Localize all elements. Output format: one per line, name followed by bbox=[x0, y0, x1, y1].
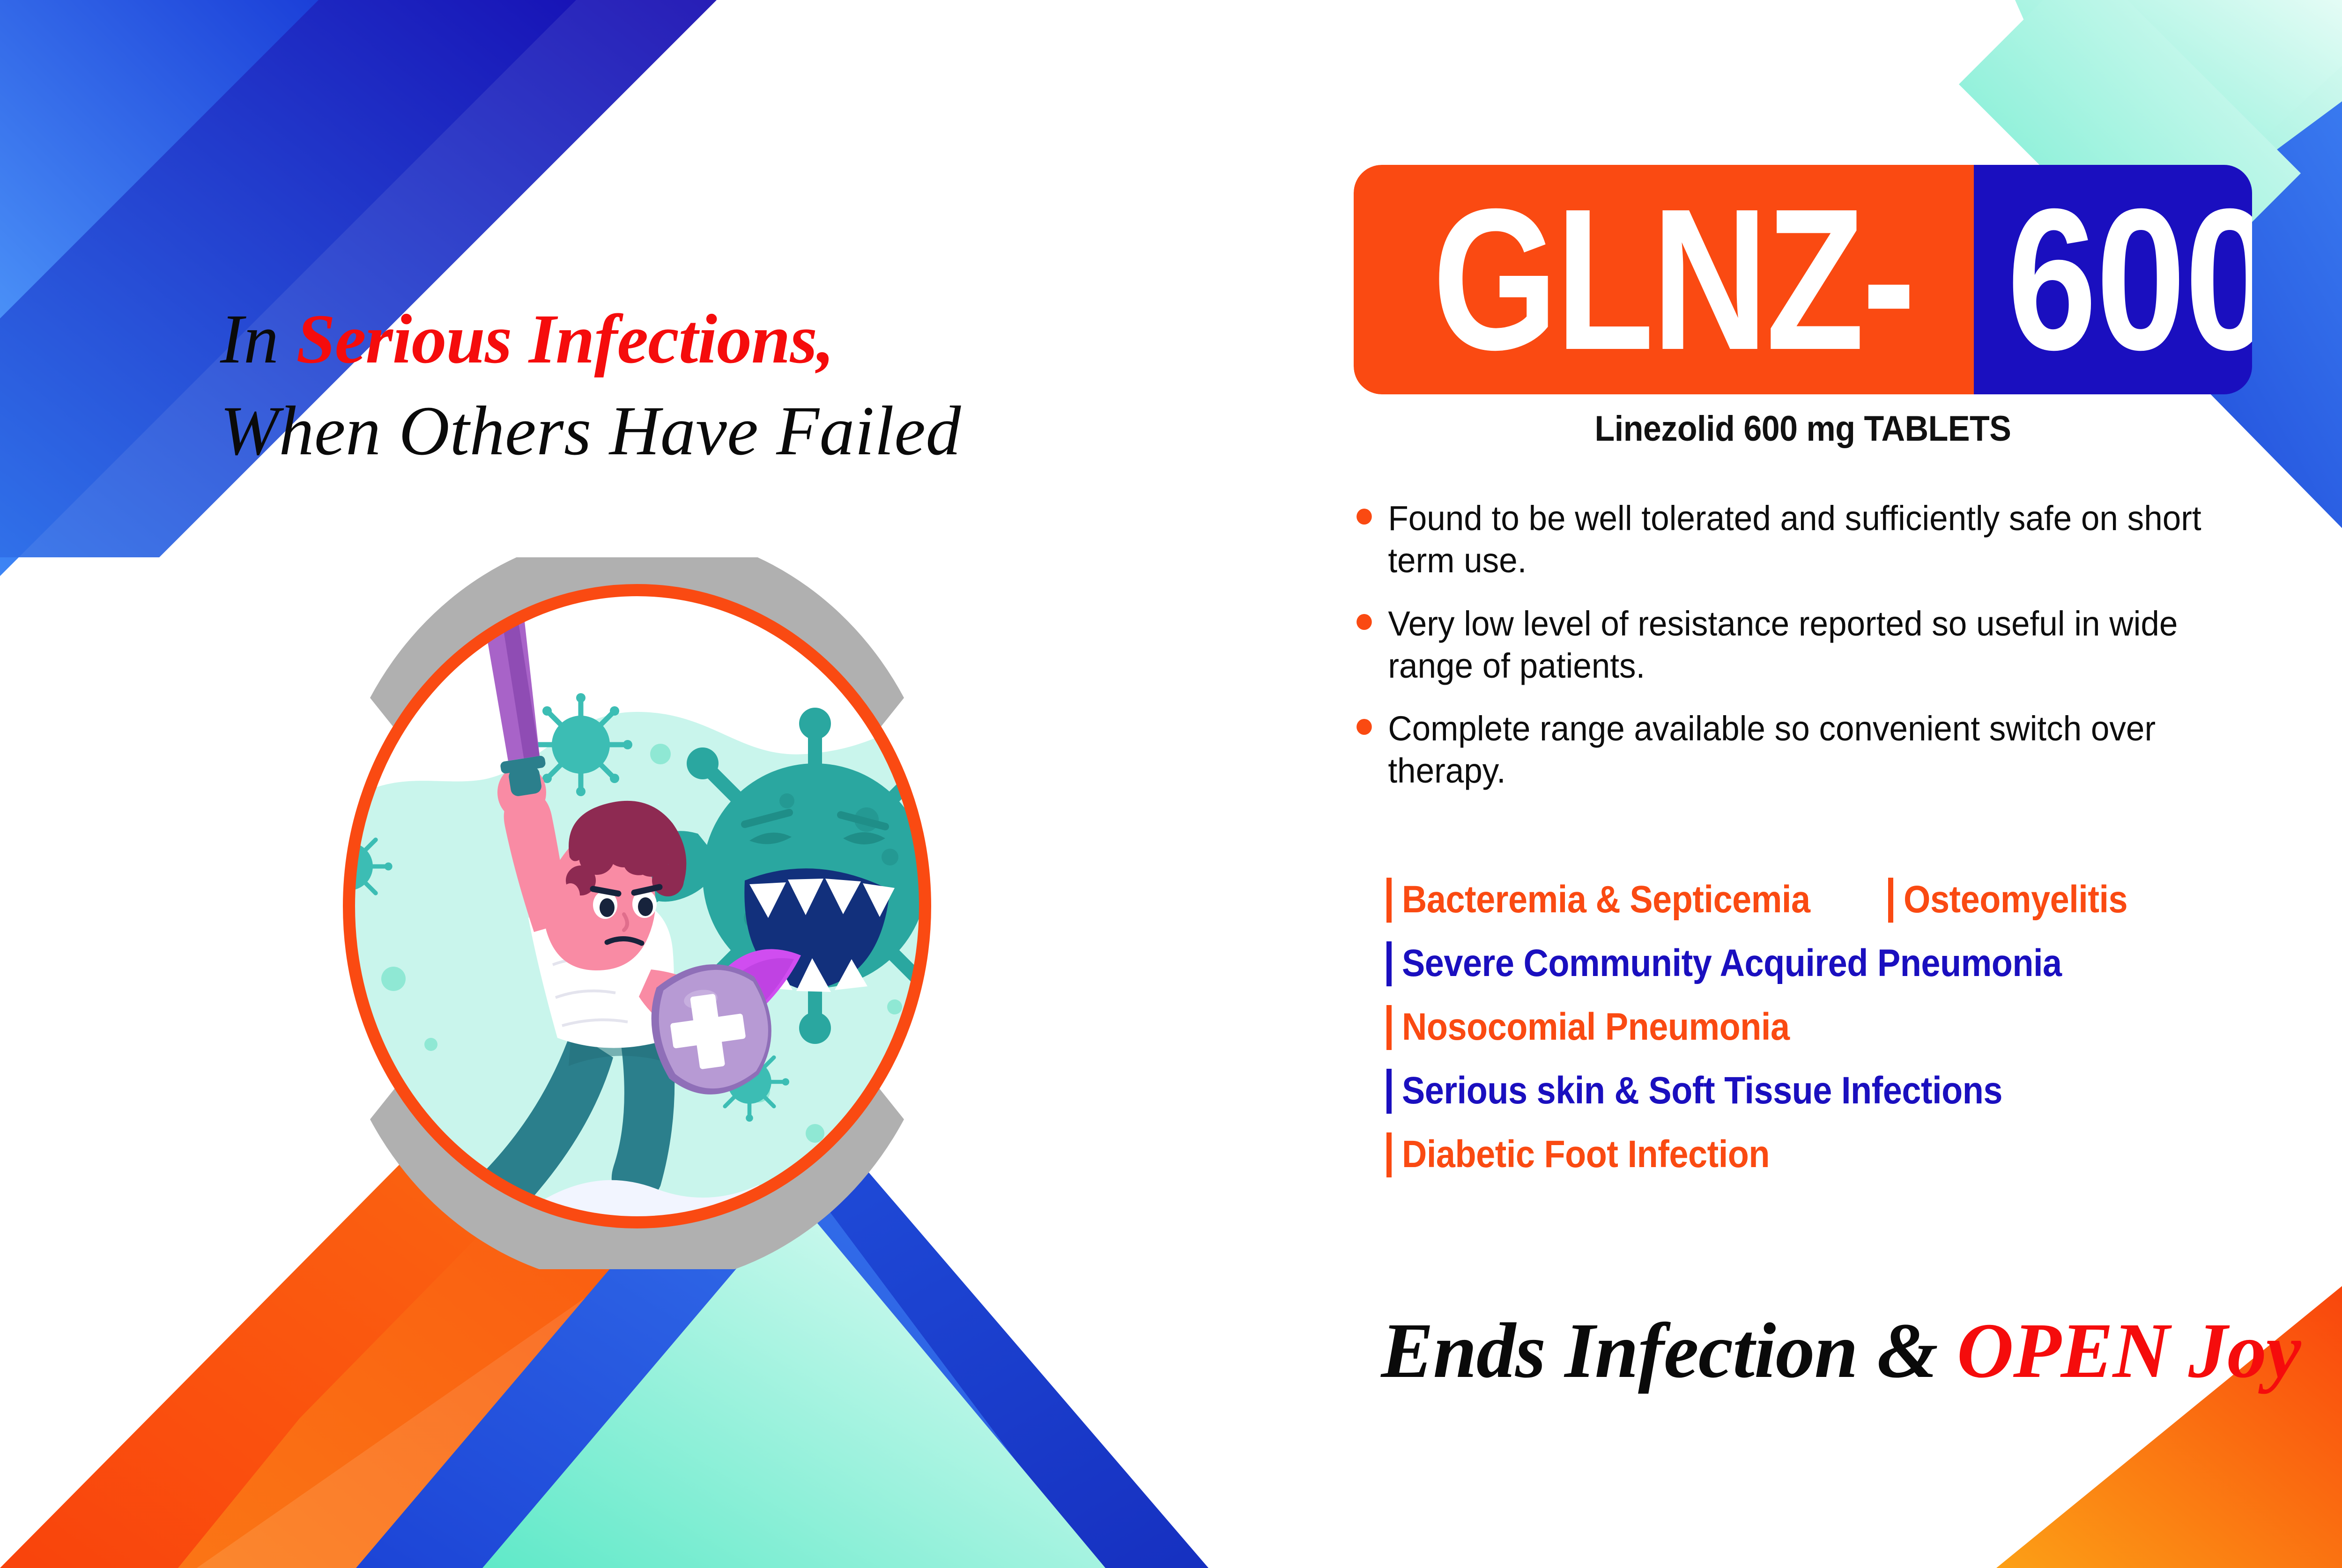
indication-item: Serious skin & Soft Tissue Infections bbox=[1386, 1072, 2069, 1114]
indication-label: Osteomyelitis bbox=[1904, 880, 2127, 919]
indication-label: Bacteremia & Septicemia bbox=[1402, 880, 1810, 919]
indication-item: Nosocomial Pneumonia bbox=[1386, 1008, 1833, 1050]
tagline-black: Ends Infection & bbox=[1381, 1307, 1937, 1394]
headline-accent: Serious Infections, bbox=[296, 300, 834, 378]
indication-label: Serious skin & Soft Tissue Infections bbox=[1402, 1072, 2002, 1110]
bullet-dot-icon bbox=[1356, 509, 1372, 525]
tagline-red: OPEN Joy bbox=[1957, 1307, 2301, 1394]
benefit-item: Very low level of resistance reported so… bbox=[1347, 603, 2264, 688]
headline-line-1: In Serious Infections, bbox=[220, 300, 1204, 378]
brand-logo-orange-half: GLNZ- bbox=[1354, 165, 1974, 394]
brand-logo: GLNZ- 600 bbox=[1354, 165, 2252, 394]
benefit-text: Found to be well tolerated and sufficien… bbox=[1388, 499, 2201, 580]
indication-label: Severe Community Acquired Pneumonia bbox=[1402, 944, 2062, 983]
benefits-list: Found to be well tolerated and sufficien… bbox=[1347, 497, 2302, 813]
indication-item: Severe Community Acquired Pneumonia bbox=[1386, 944, 2135, 986]
indication-row: Nosocomial Pneumonia bbox=[1386, 1008, 2305, 1050]
indication-row: Serious skin & Soft Tissue Infections bbox=[1386, 1072, 2305, 1114]
indications-list: Bacteremia & Septicemia Osteomyelitis Se… bbox=[1386, 880, 2305, 1199]
indication-item: Bacteremia & Septicemia bbox=[1386, 880, 1855, 923]
bullet-dot-icon bbox=[1356, 719, 1372, 735]
magnifier-illustration bbox=[290, 557, 984, 1269]
poster-root: In Serious Infections, When Others Have … bbox=[0, 0, 2342, 1568]
brand-logo-blue-half: 600 bbox=[1974, 165, 2252, 394]
indication-bar-icon bbox=[1386, 1132, 1392, 1177]
indication-label: Diabetic Foot Infection bbox=[1402, 1135, 1770, 1174]
tagline: Ends Infection & OPEN Joy bbox=[1363, 1311, 2319, 1390]
generic-name: Linezolid 600 mg TABLETS bbox=[1390, 408, 2216, 449]
indication-item: Diabetic Foot Infection bbox=[1386, 1135, 1810, 1177]
headline-prefix: In bbox=[220, 300, 296, 378]
benefit-item: Complete range available so convenient s… bbox=[1347, 708, 2264, 792]
benefit-text: Very low level of resistance reported so… bbox=[1388, 604, 2178, 685]
benefit-item: Found to be well tolerated and sufficien… bbox=[1347, 497, 2264, 582]
indication-label: Nosocomial Pneumonia bbox=[1402, 1008, 1790, 1046]
brand-name-blue: 600 bbox=[2007, 191, 2252, 368]
indication-bar-icon bbox=[1386, 941, 1392, 986]
right-column: GLNZ- 600 Linezolid 600 mg TABLETS Found… bbox=[1312, 0, 2342, 1568]
indication-bar-icon bbox=[1888, 878, 1893, 923]
indication-bar-icon bbox=[1386, 1005, 1392, 1050]
benefit-text: Complete range available so convenient s… bbox=[1388, 709, 2156, 790]
indication-row: Diabetic Foot Infection bbox=[1386, 1135, 2305, 1177]
indication-item: Osteomyelitis bbox=[1888, 880, 2152, 923]
bullet-dot-icon bbox=[1356, 614, 1372, 630]
brand-name-orange: GLNZ- bbox=[1432, 191, 1913, 368]
magnifier-svg bbox=[290, 557, 984, 1269]
indication-row: Severe Community Acquired Pneumonia bbox=[1386, 944, 2305, 986]
indication-bar-icon bbox=[1386, 878, 1392, 923]
left-column: In Serious Infections, When Others Have … bbox=[0, 0, 1312, 1568]
headline-line-2: When Others Have Failed bbox=[220, 392, 1204, 470]
indication-bar-icon bbox=[1386, 1069, 1392, 1114]
indication-row: Bacteremia & Septicemia Osteomyelitis bbox=[1386, 880, 2305, 923]
headline-block: In Serious Infections, When Others Have … bbox=[220, 300, 1204, 470]
